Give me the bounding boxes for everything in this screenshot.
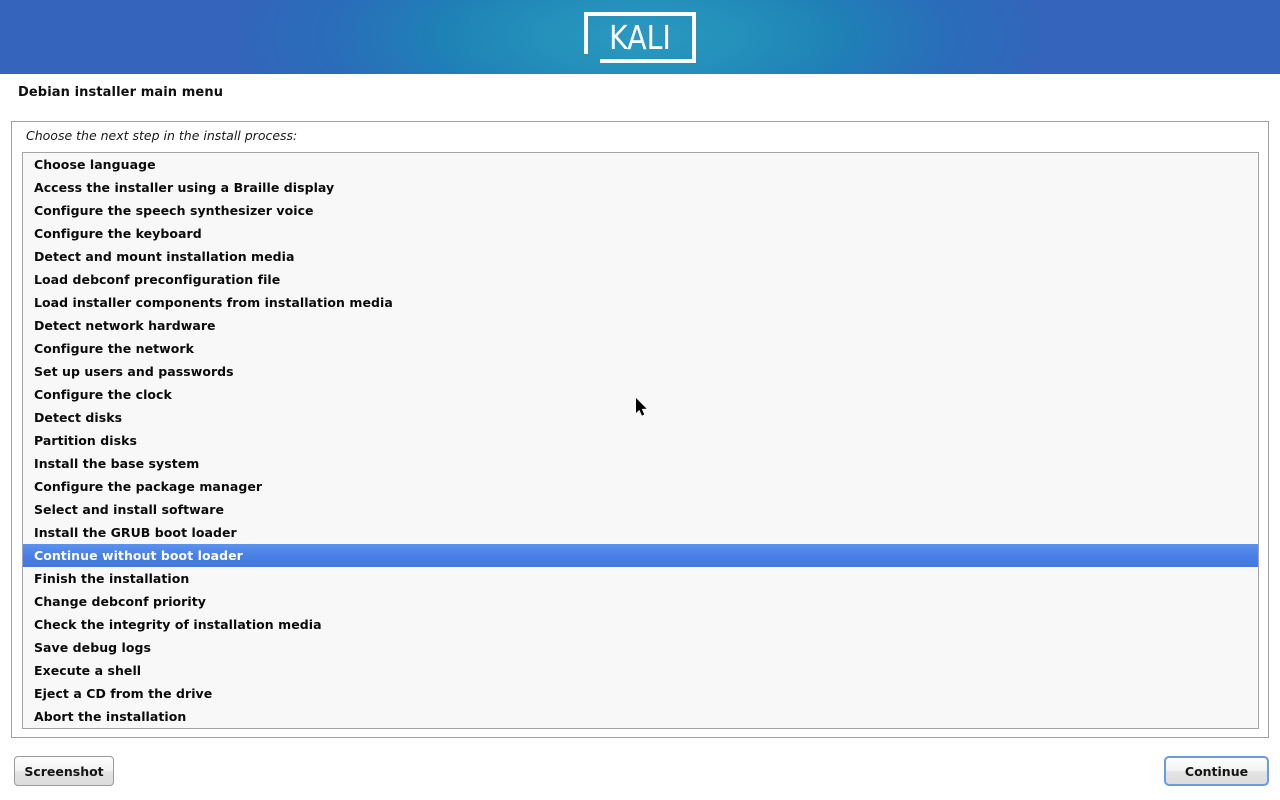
- logo-frame-bottom: [600, 59, 696, 63]
- list-item[interactable]: Load installer components from installat…: [23, 291, 1258, 314]
- list-item[interactable]: Detect disks: [23, 406, 1258, 429]
- kali-banner: KALI: [0, 0, 1280, 74]
- list-item[interactable]: Detect and mount installation media: [23, 245, 1258, 268]
- list-item[interactable]: Change debconf priority: [23, 590, 1258, 613]
- prompt-label: Choose the next step in the install proc…: [26, 128, 297, 143]
- list-item[interactable]: Partition disks: [23, 429, 1258, 452]
- list-item[interactable]: Load debconf preconfiguration file: [23, 268, 1258, 291]
- list-item[interactable]: Configure the speech synthesizer voice: [23, 199, 1258, 222]
- list-item[interactable]: Configure the package manager: [23, 475, 1258, 498]
- kali-logo: KALI: [584, 12, 696, 63]
- list-item[interactable]: Continue without boot loader: [23, 544, 1258, 567]
- main-panel: Choose the next step in the install proc…: [11, 121, 1269, 738]
- list-item[interactable]: Finish the installation: [23, 567, 1258, 590]
- list-item[interactable]: Save debug logs: [23, 636, 1258, 659]
- list-item[interactable]: Select and install software: [23, 498, 1258, 521]
- banner-edge-right: [1039, 0, 1280, 74]
- list-item[interactable]: Set up users and passwords: [23, 360, 1258, 383]
- list-item[interactable]: Detect network hardware: [23, 314, 1258, 337]
- list-item[interactable]: Choose language: [23, 153, 1258, 176]
- list-item[interactable]: Configure the network: [23, 337, 1258, 360]
- logo-frame-right: [692, 12, 696, 63]
- logo-frame-left: [584, 12, 588, 54]
- list-item[interactable]: Access the installer using a Braille dis…: [23, 176, 1258, 199]
- list-item[interactable]: Configure the keyboard: [23, 222, 1258, 245]
- screenshot-button[interactable]: Screenshot: [14, 756, 114, 786]
- list-item[interactable]: Install the base system: [23, 452, 1258, 475]
- list-item[interactable]: Install the GRUB boot loader: [23, 521, 1258, 544]
- banner-edge-left: [0, 0, 241, 74]
- continue-button[interactable]: Continue: [1164, 756, 1269, 786]
- install-step-list[interactable]: Choose languageAccess the installer usin…: [22, 152, 1259, 729]
- list-item[interactable]: Configure the clock: [23, 383, 1258, 406]
- list-item[interactable]: Abort the installation: [23, 705, 1258, 728]
- list-item[interactable]: Eject a CD from the drive: [23, 682, 1258, 705]
- page-title: Debian installer main menu: [18, 85, 223, 100]
- list-item[interactable]: Check the integrity of installation medi…: [23, 613, 1258, 636]
- kali-logo-text: KALI: [592, 16, 688, 59]
- list-item[interactable]: Execute a shell: [23, 659, 1258, 682]
